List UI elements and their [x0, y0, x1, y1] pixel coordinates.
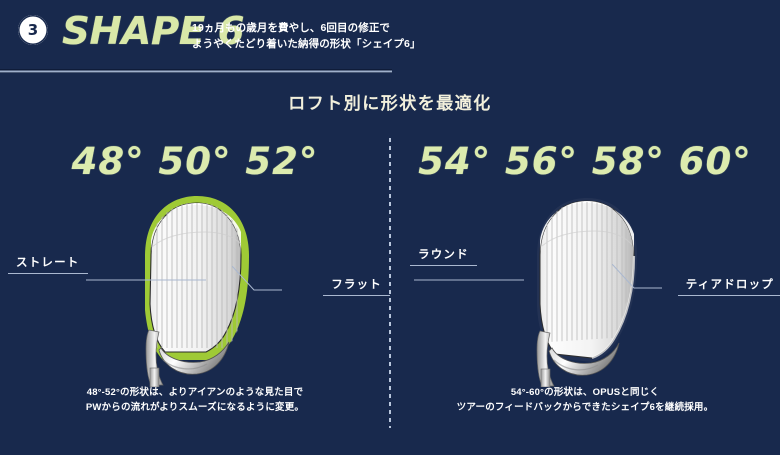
callout-label-flat: フラット: [331, 276, 382, 296]
panel-caption-right-line-2: ツアーのフィードバックからできたシェイプ6を継続採用。: [390, 400, 780, 415]
panel-caption-right: 54°-60°の形状は、OPUSと同じく ツアーのフィードバックからできたシェイ…: [390, 385, 780, 415]
panel-lofts-54-60: 54° 56° 58° 60°: [390, 130, 780, 440]
loft-range-label: 54° 56° 58° 60°: [390, 140, 780, 184]
page-subtitle: 19ヵ月もの歳月を費やし、6回目の修正で ようやくたどり着いた納得の形状「シェイ…: [192, 20, 421, 52]
callout-label-teardrop: ティアドロップ: [686, 276, 774, 296]
step-number-label: 3: [28, 23, 38, 38]
wedge-head-illustration-left: [105, 192, 285, 387]
slide-root: 3 SHAPE 6 19ヵ月もの歳月を費やし、6回目の修正で ようやくたどり着い…: [0, 0, 780, 455]
header-divider-rule: [0, 69, 392, 73]
panel-lofts-48-52: 48° 50° 52°: [0, 130, 390, 440]
step-number-badge: 3: [18, 15, 48, 45]
panel-caption-right-line-1: 54°-60°の形状は、OPUSと同じく: [390, 385, 780, 400]
wedge-head-illustration-right: [495, 192, 675, 387]
callout-label-round: ラウンド: [418, 246, 469, 266]
header: 3 SHAPE 6 19ヵ月もの歳月を費やし、6回目の修正で ようやくたどり着い…: [0, 0, 780, 72]
callout-label-straight: ストレート: [16, 254, 80, 274]
page-subtitle-line-1: 19ヵ月もの歳月を費やし、6回目の修正で: [192, 20, 421, 36]
panel-caption-left-line-2: PWからの流れがよりスムーズになるように変更。: [0, 400, 390, 415]
page-subtitle-line-2: ようやくたどり着いた納得の形状「シェイプ6」: [192, 36, 421, 52]
section-heading: ロフト別に形状を最適化: [0, 89, 780, 114]
panel-caption-left: 48°-52°の形状は、よりアイアンのような見た目で PWからの流れがよりスムー…: [0, 385, 390, 415]
loft-range-label: 48° 50° 52°: [0, 140, 390, 184]
panel-caption-left-line-1: 48°-52°の形状は、よりアイアンのような見た目で: [0, 385, 390, 400]
